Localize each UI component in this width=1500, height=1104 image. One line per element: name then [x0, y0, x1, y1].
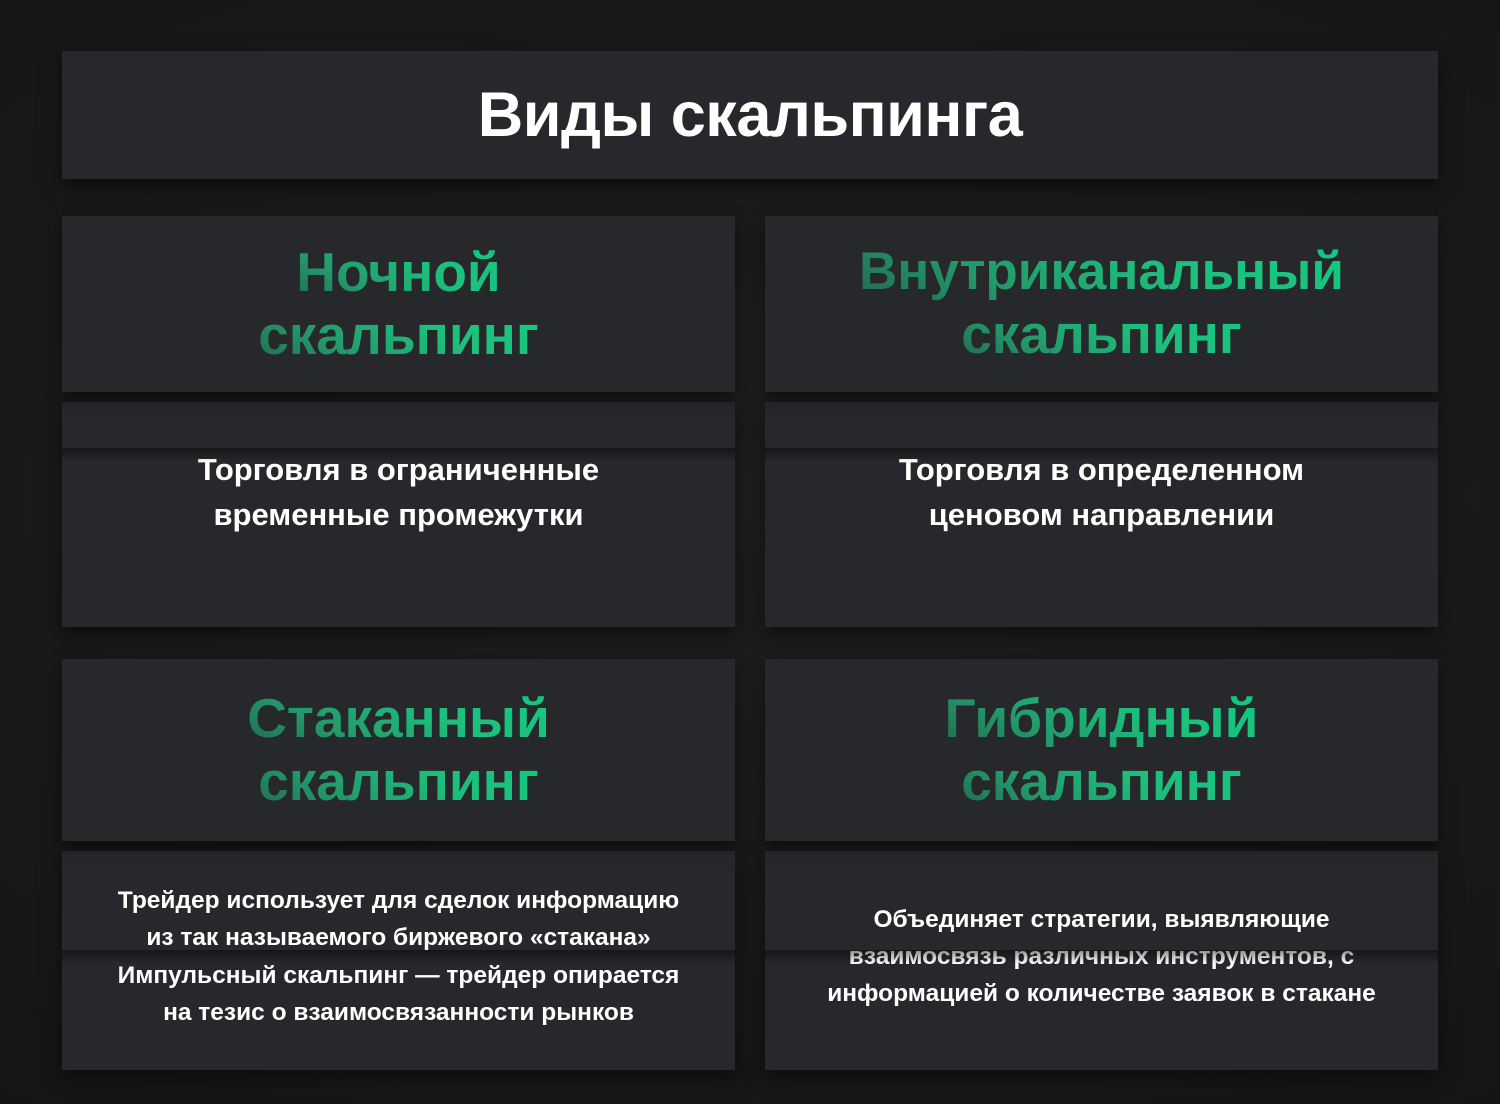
page-title: Виды скальпинга	[478, 82, 1023, 148]
card-header-night-scalping: Ночной скальпинг	[62, 216, 735, 392]
card-title-line-2: скальпинг	[961, 306, 1242, 363]
body-line: ценовом направлении	[899, 493, 1304, 538]
body-line: Объединяет стратегии, выявляющие	[827, 901, 1376, 938]
card-body-text: Торговля в ограниченные временные промеж…	[198, 448, 599, 538]
body-line: из так называемого биржевого «стакана»	[118, 919, 680, 956]
card-body-text: Объединяет стратегии, выявляющие взаимос…	[827, 901, 1376, 1013]
card-body-night-scalping: Торговля в ограниченные временные промеж…	[62, 402, 735, 627]
card-header-order-book-scalping: Стаканный скальпинг	[62, 659, 735, 841]
card-title-line-1: Ночной	[296, 244, 501, 301]
card-body-text: Торговля в определенном ценовом направле…	[899, 448, 1304, 538]
card-title-line-2: скальпинг	[258, 307, 539, 364]
card-night-scalping[interactable]: Ночной скальпинг Торговля в ограниченные…	[62, 216, 735, 627]
card-title-line-1: Стаканный	[247, 690, 550, 747]
card-body-hybrid-scalping: Объединяет стратегии, выявляющие взаимос…	[765, 851, 1438, 1070]
body-line: Трейдер использует для сделок информацию	[118, 882, 680, 919]
card-body-order-book-scalping: Трейдер использует для сделок информацию…	[62, 851, 735, 1070]
card-body-text: Трейдер использует для сделок информацию…	[118, 882, 680, 1031]
body-line: Торговля в определенном	[899, 448, 1304, 493]
card-in-channel-scalping[interactable]: Внутриканальный скальпинг Торговля в опр…	[765, 216, 1438, 627]
body-line: взаимосвязь различных инструментов, с	[827, 938, 1376, 975]
card-body-in-channel-scalping: Торговля в определенном ценовом направле…	[765, 402, 1438, 627]
card-order-book-scalping[interactable]: Стаканный скальпинг Трейдер использует д…	[62, 659, 735, 1070]
card-title-line-1: Внутриканальный	[859, 245, 1344, 300]
card-hybrid-scalping[interactable]: Гибридный скальпинг Объединяет стратегии…	[765, 659, 1438, 1070]
body-line: на тезис о взаимосвязанности рынков	[118, 994, 680, 1031]
card-title-line-2: скальпинг	[258, 753, 539, 810]
body-line: временные промежутки	[198, 493, 599, 538]
infographic-board: Виды скальпинга Ночной скальпинг Торговл…	[0, 0, 1500, 1104]
card-grid: Ночной скальпинг Торговля в ограниченные…	[62, 216, 1438, 1070]
title-panel: Виды скальпинга	[62, 51, 1438, 179]
body-line: Торговля в ограниченные	[198, 448, 599, 493]
card-title-line-1: Гибридный	[945, 690, 1259, 747]
body-line: Импульсный скальпинг — трейдер опирается	[118, 957, 680, 994]
card-header-in-channel-scalping: Внутриканальный скальпинг	[765, 216, 1438, 392]
card-title-line-2: скальпинг	[961, 753, 1242, 810]
body-line: информацией о количестве заявок в стакан…	[827, 975, 1376, 1012]
card-header-hybrid-scalping: Гибридный скальпинг	[765, 659, 1438, 841]
